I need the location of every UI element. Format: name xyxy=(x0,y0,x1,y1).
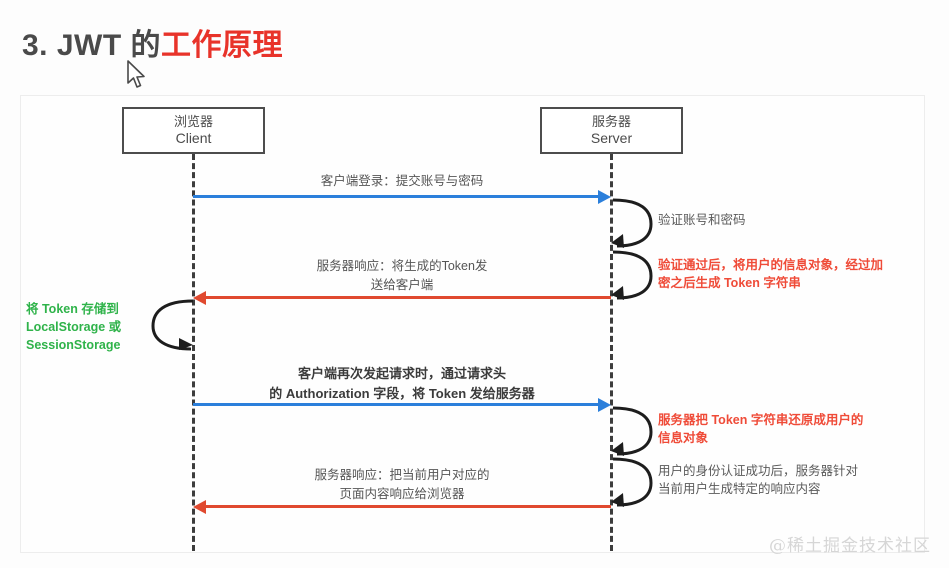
participant-server: 服务器 Server xyxy=(540,107,683,154)
message-token-response-label: 服务器响应：将生成的Token发 送给客户端 xyxy=(193,257,611,295)
participant-client-cn: 浏览器 xyxy=(124,114,263,130)
note-store-token: 将 Token 存储到 LocalStorage 或 SessionStorag… xyxy=(26,300,121,354)
message-token-response-line-1: 服务器响应：将生成的Token发 xyxy=(193,257,611,276)
message-page-content-response-line-1: 服务器响应：把当前用户对应的 xyxy=(193,466,611,485)
note-store-token-line-3: SessionStorage xyxy=(26,336,121,354)
note-restore-user-object: 服务器把 Token 字符串还原成用户的 信息对象 xyxy=(658,411,863,447)
message-token-response-line xyxy=(206,296,611,299)
message-login-request-line-1: 客户端登录：提交账号与密码 xyxy=(193,172,611,191)
message-login-request-arrowhead-icon xyxy=(598,190,611,204)
message-auth-header-request-line-2: 的 Authorization 字段，将 Token 发给服务器 xyxy=(193,384,611,404)
message-page-content-response-label: 服务器响应：把当前用户对应的 页面内容响应给浏览器 xyxy=(193,466,611,504)
message-auth-header-request-arrowhead-icon xyxy=(598,398,611,412)
watermark: @稀土掘金技术社区 xyxy=(769,531,931,556)
note-store-token-line-2: LocalStorage 或 xyxy=(26,318,121,336)
participant-server-en: Server xyxy=(542,130,681,148)
note-verify-credentials: 验证账号和密码 xyxy=(658,211,746,229)
message-page-content-response-line-2: 页面内容响应给浏览器 xyxy=(193,485,611,504)
message-token-response-line-2: 送给客户端 xyxy=(193,276,611,295)
note-restore-user-object-line-2: 信息对象 xyxy=(658,429,863,447)
page-title-accent: 工作原理 xyxy=(161,29,283,62)
participant-client-en: Client xyxy=(124,130,263,148)
page-title: 3. JWT 的工作原理 xyxy=(22,20,283,64)
message-auth-header-request-line xyxy=(193,403,598,406)
message-page-content-response-line xyxy=(206,505,611,508)
note-restore-user-object-line-1: 服务器把 Token 字符串还原成用户的 xyxy=(658,411,863,429)
message-login-request-label: 客户端登录：提交账号与密码 xyxy=(193,172,611,191)
message-page-content-response-arrowhead-icon xyxy=(193,500,206,514)
participant-server-cn: 服务器 xyxy=(542,114,681,130)
note-generate-response-line-2: 当前用户生成特定的响应内容 xyxy=(658,480,858,498)
message-auth-header-request-line-1: 客户端再次发起请求时，通过请求头 xyxy=(193,364,611,384)
page-title-prefix: 3. JWT 的 xyxy=(22,29,161,62)
mouse-cursor-icon xyxy=(126,60,148,90)
message-token-response-arrowhead-icon xyxy=(193,291,206,305)
note-generate-response: 用户的身份认证成功后，服务器针对 当前用户生成特定的响应内容 xyxy=(658,462,858,498)
note-verify-credentials-line-1: 验证账号和密码 xyxy=(658,211,746,229)
note-generate-response-line-1: 用户的身份认证成功后，服务器针对 xyxy=(658,462,858,480)
note-generate-token: 验证通过后，将用户的信息对象，经过加 密之后生成 Token 字符串 xyxy=(658,256,883,292)
participant-client: 浏览器 Client xyxy=(122,107,265,154)
message-auth-header-request-label: 客户端再次发起请求时，通过请求头 的 Authorization 字段，将 To… xyxy=(193,364,611,403)
note-store-token-line-1: 将 Token 存储到 xyxy=(26,300,121,318)
message-login-request-line xyxy=(193,195,598,198)
note-generate-token-line-2: 密之后生成 Token 字符串 xyxy=(658,274,883,292)
note-generate-token-line-1: 验证通过后，将用户的信息对象，经过加 xyxy=(658,256,883,274)
